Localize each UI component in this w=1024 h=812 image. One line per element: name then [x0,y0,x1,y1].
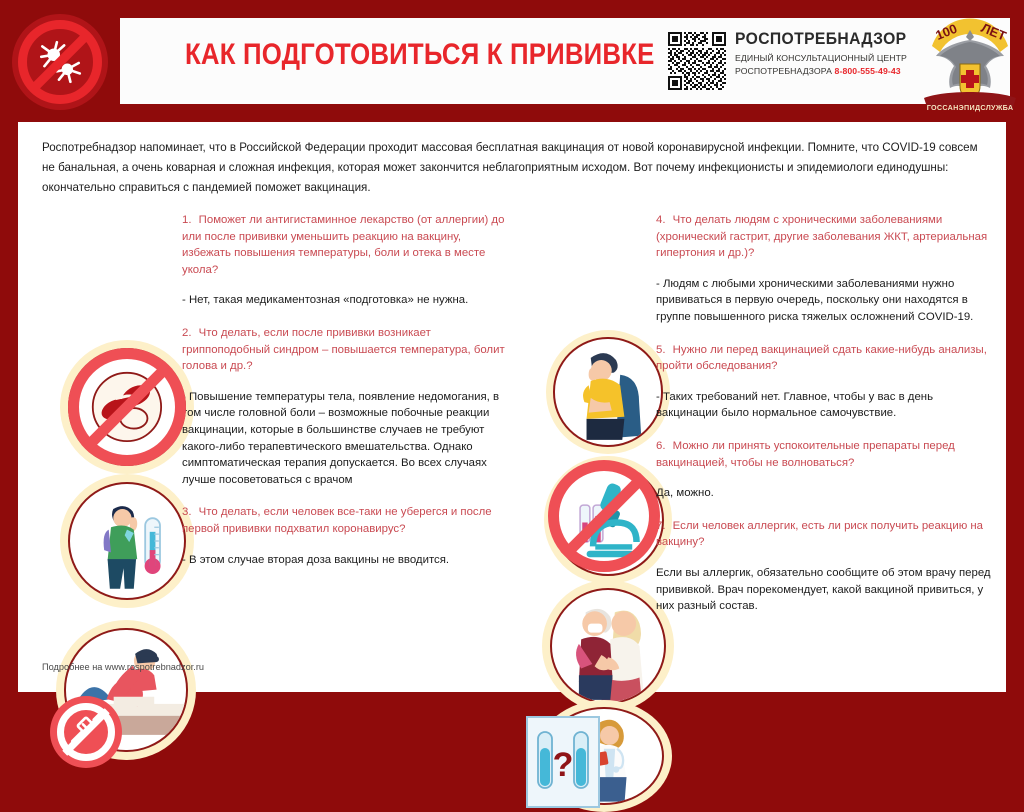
answer-block: Да, можно. [656,485,996,502]
prohibition-ring [68,348,186,466]
icon-inner [68,482,186,600]
no-laboratory-tests-icon [544,456,672,584]
question-block: 3. Что делать, если человек все-таки не … [182,504,512,537]
icon-inner [553,337,662,446]
poster-header: КАК ПОДГОТОВИТЬСЯ К ПРИВИВКЕ [0,0,1024,122]
question-block: 4. Что делать людям с хроническими забол… [656,212,996,262]
question-block: 2. Что делать, если после прививки возни… [182,325,512,375]
qr-code-icon [668,32,726,90]
question-text: Что делать, если человек все-таки не убе… [182,506,492,535]
answer-block: - Повышение температуры тела, появление … [182,389,512,489]
person-sick-in-bed-no-syringe-icon [56,620,196,760]
brand-block: РОСПОТРЕБНАДЗОР ЕДИНЫЙ КОНСУЛЬТАЦИОННЫЙ … [735,30,920,76]
couple-glyph [552,590,664,702]
vials-glyph: ? [528,718,598,806]
answer-block: Если вы аллергик, обязательно сообщите о… [656,565,996,615]
brand-name: РОСПОТРЕБНАДЗОР [735,30,911,49]
doctor-with-test-vials-question-icon: ? [536,700,672,812]
question-block: 7. Если человек аллергик, есть ли риск п… [656,518,996,551]
person-with-stomach-pain-icon [546,330,670,454]
content-card: Роспотребнадзор напоминает, что в Россий… [18,122,1006,692]
question-text: Поможет ли антигистаминное лекарство (от… [182,214,504,276]
answer-block: - Людям с любыми хроническими заболевани… [656,276,996,326]
header-white-panel: КАК ПОДГОТОВИТЬСЯ К ПРИВИВКЕ [120,18,1010,104]
no-virus-icon [12,14,108,110]
question-block: 1. Поможет ли антигистаминное лекарство … [182,212,512,278]
no-pills-icon [60,340,194,474]
qa-column-right: 4. Что делать людям с хроническими забол… [656,212,996,631]
answer-block: - В этом случае вторая доза вакцины не в… [182,552,512,569]
answer-block: - Нет, такая медикаментозная «подготовка… [182,292,512,309]
question-number: 5. [656,344,666,356]
question-number: 1. [182,214,192,226]
brand-subtitle-line2: РОСПОТРЕБНАДЗОРА 8-800-555-49-43 [735,66,920,76]
question-text: Что делать людям с хроническими заболева… [656,214,987,259]
prohibition-slash [81,361,172,452]
poster-root: КАК ПОДГОТОВИТЬСЯ К ПРИВИВКЕ [0,0,1024,730]
question-number: 6. [656,440,666,452]
person-with-thermometer-icon [60,474,194,608]
question-block: 6. Можно ли принять успокоительные препа… [656,438,996,471]
question-text: Нужно ли перед вакцинацией сдать какие-н… [656,344,987,373]
question-number: 3. [182,506,192,518]
brand-subtitle-line1: ЕДИНЫЙ КОНСУЛЬТАЦИОННЫЙ ЦЕНТР [735,53,920,63]
no-syringe-badge [50,696,122,768]
calm-couple-icon [542,580,674,712]
rospotrebnadzor-emblem-icon: 100 ЛЕТ ГОССАНЭПИДСЛУЖБА [920,12,1020,124]
intro-paragraph: Роспотребнадзор напоминает, что в Россий… [42,138,984,198]
question-mark-label: ? [553,746,574,784]
prohibition-slash [561,473,648,560]
prohibition-ring [548,460,660,572]
question-text: Если человек аллергик, есть ли риск полу… [656,520,983,549]
answer-block: - Таких требований нет. Главное, чтобы у… [656,389,996,422]
stomach-glyph [555,339,660,444]
question-text: Что делать, если после прививки возникае… [182,327,505,372]
footer-note[interactable]: Подробнее на www.rospotrebnadzor.ru [42,662,204,672]
svg-text:ГОССАНЭПИДСЛУЖБА: ГОССАНЭПИДСЛУЖБА [927,103,1014,112]
hotline-phone[interactable]: 8-800-555-49-43 [835,66,901,76]
question-text: Можно ли принять успокоительные препарат… [656,440,955,469]
question-block: 5. Нужно ли перед вакцинацией сдать каки… [656,342,996,375]
question-number: 2. [182,327,192,339]
qa-column-left: 1. Поможет ли антигистаминное лекарство … [182,212,512,584]
page-title: КАК ПОДГОТОВИТЬСЯ К ПРИВИВКЕ [185,38,654,72]
fever-glyph [70,484,184,598]
brand-subtitle-prefix: РОСПОТРЕБНАДЗОРА [735,66,832,76]
icon-inner [550,588,666,704]
question-number: 4. [656,214,666,226]
